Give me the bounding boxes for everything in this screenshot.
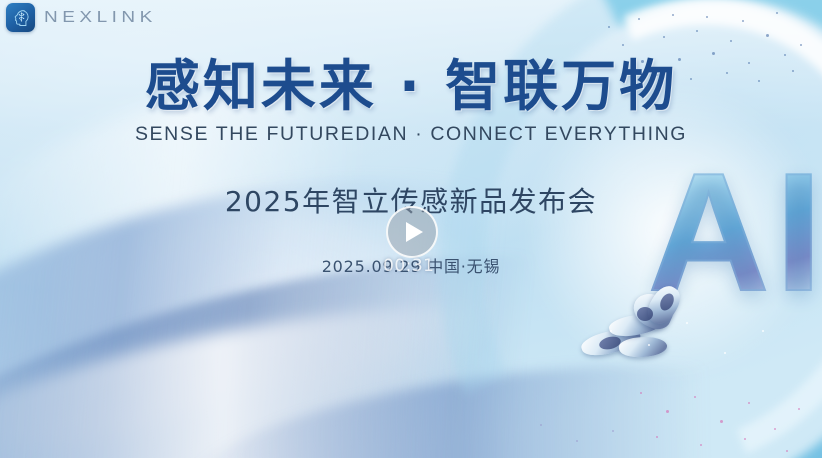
video-player-frame[interactable]: AI bbox=[0, 0, 822, 458]
page-title: 感知未来 · 智联万物 bbox=[0, 58, 822, 116]
brain-head-icon bbox=[6, 3, 35, 32]
brand-logo-text: NEXLINK bbox=[44, 8, 157, 26]
play-icon bbox=[406, 222, 423, 242]
brand-logo[interactable]: NEXLINK bbox=[6, 3, 157, 32]
page-subtitle-en: SENSE THE FUTUREDIAN · CONNECT EVERYTHIN… bbox=[0, 123, 822, 146]
video-timestamp: 00:31 bbox=[383, 256, 435, 276]
play-button[interactable] bbox=[386, 206, 438, 258]
